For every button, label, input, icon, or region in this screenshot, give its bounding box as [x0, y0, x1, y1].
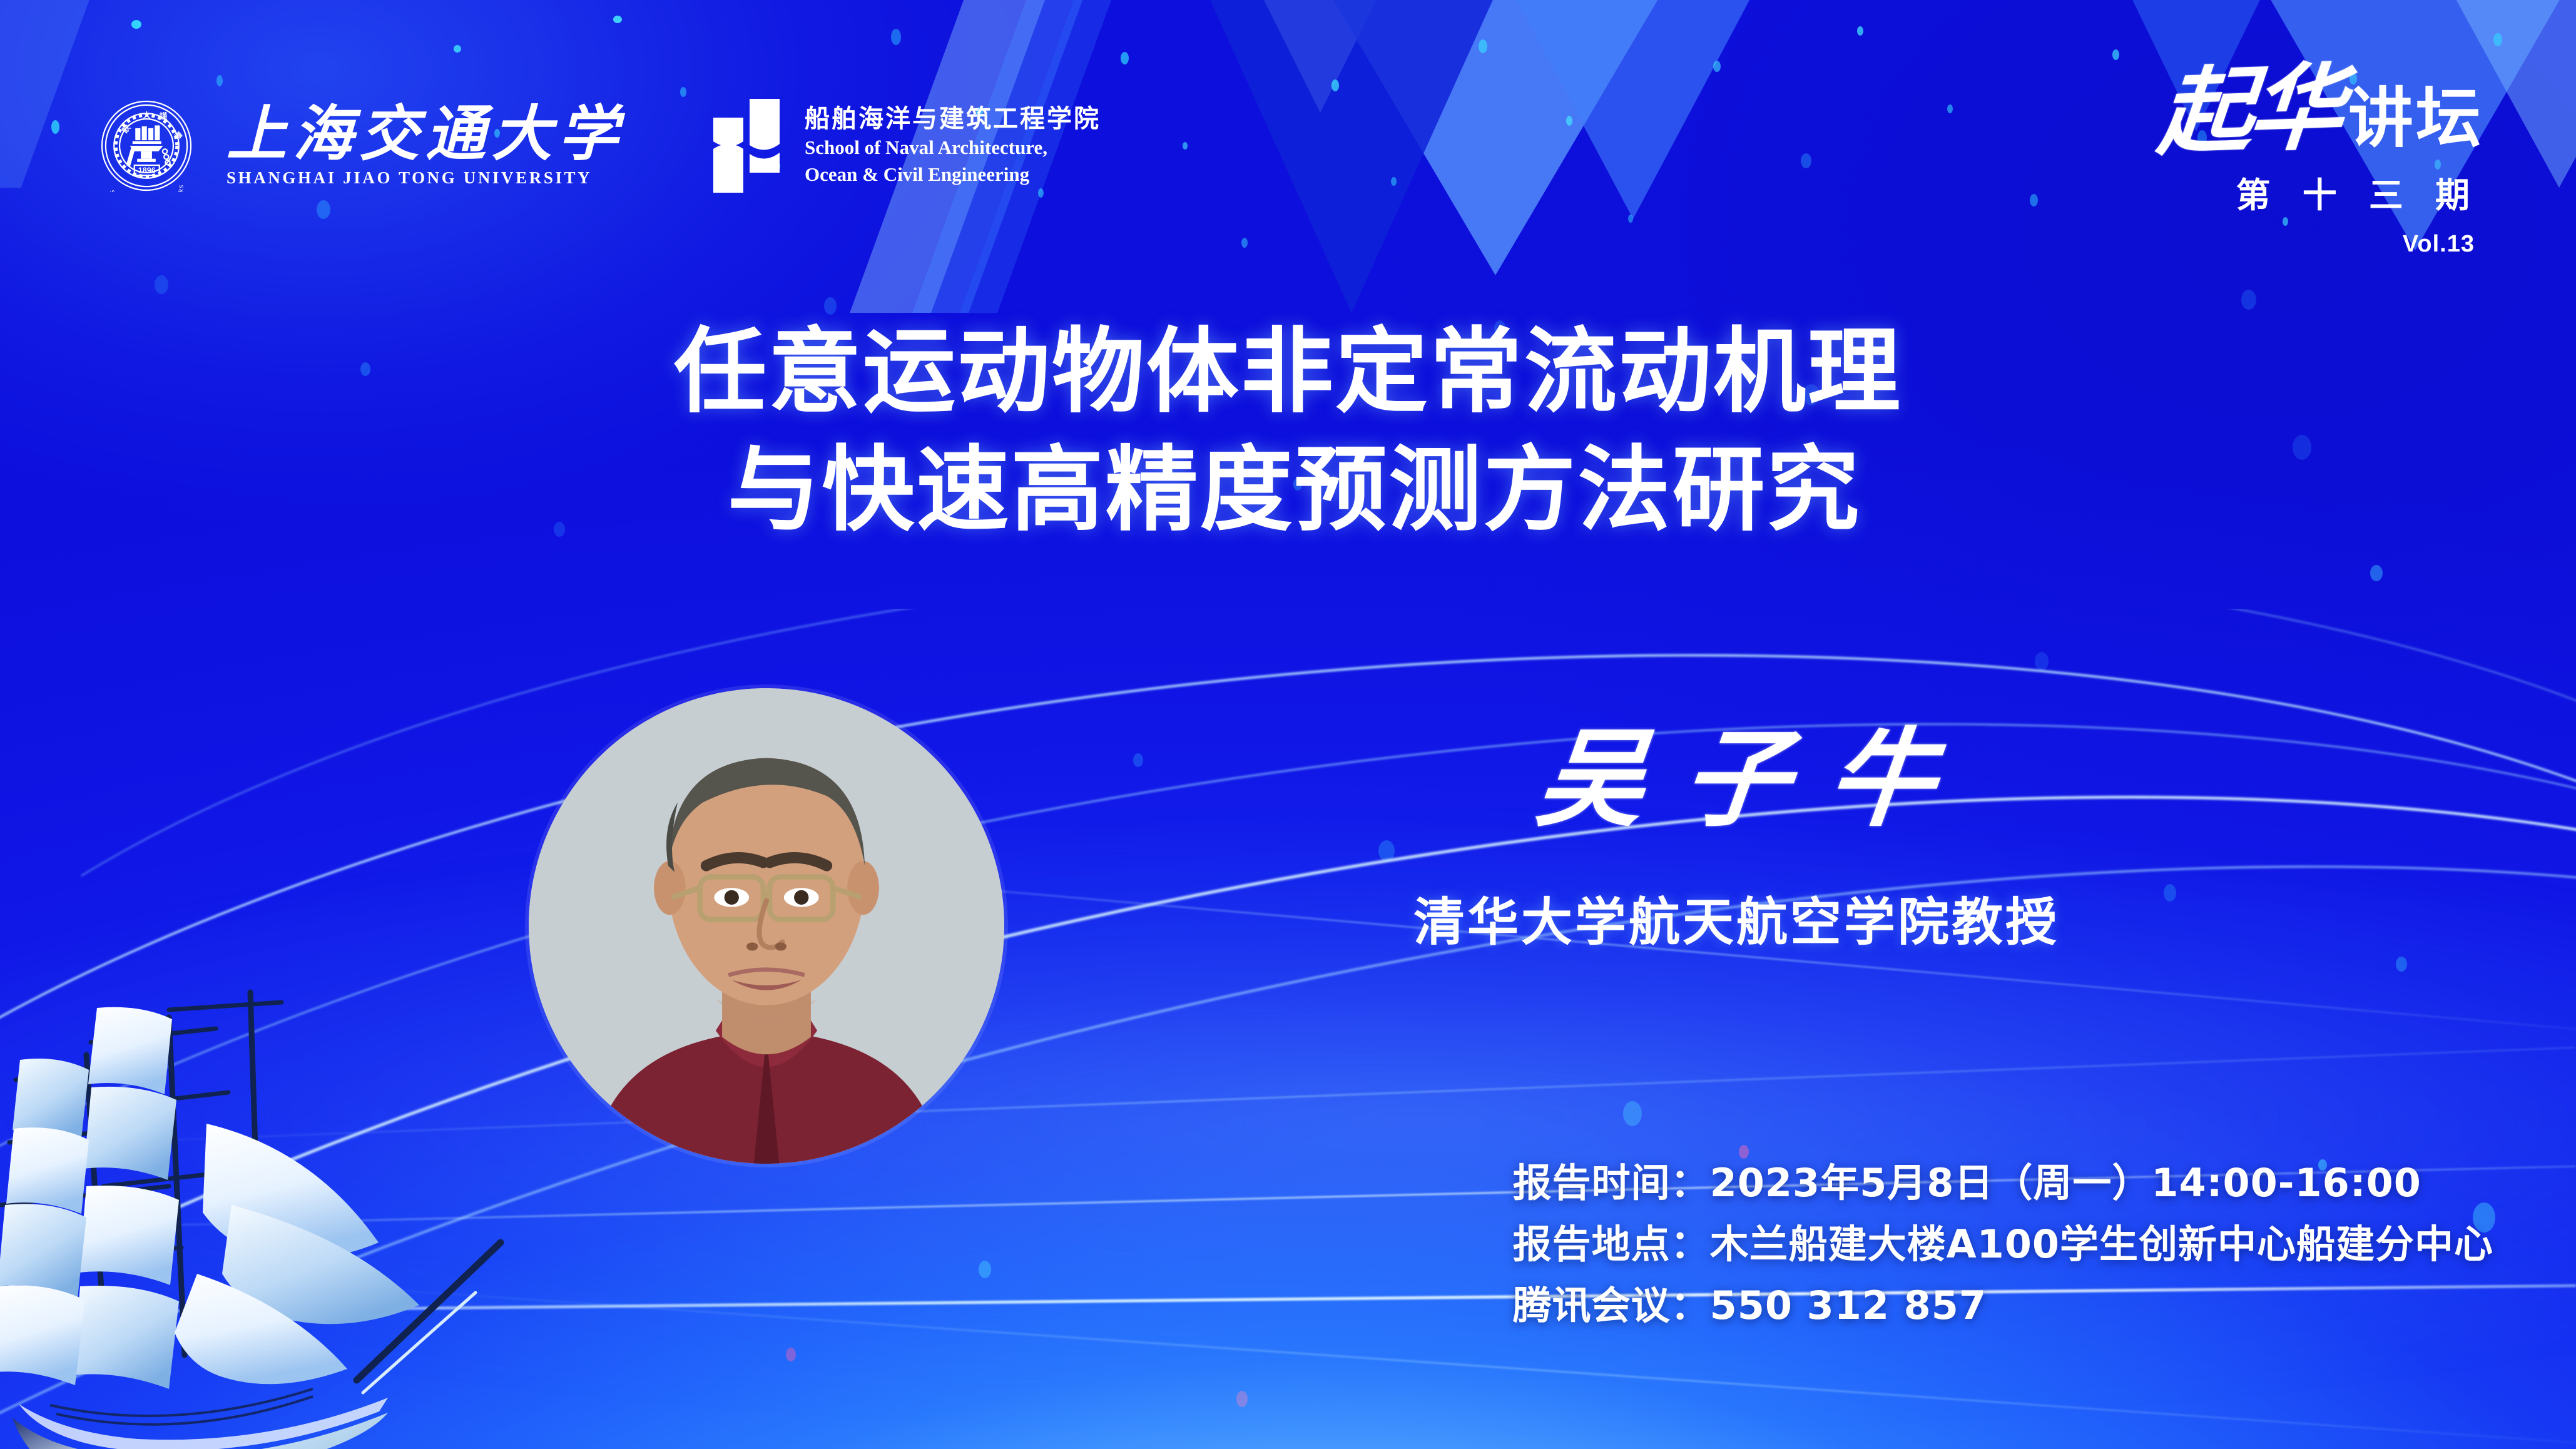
speaker-name: 吴子牛 [1277, 726, 2196, 832]
school-name-en-line1: School of Naval Architecture, [805, 136, 1101, 160]
speaker-portrait [529, 688, 1004, 1164]
event-time: 报告时间：2023年5月8日（周一）14:00-16:00 [1513, 1152, 2493, 1214]
forum-issue-number: 第 十 三 期 [2159, 167, 2483, 217]
school-name-cn: 船舶海洋与建筑工程学院 [805, 105, 1101, 133]
naval-architecture-mark-icon [713, 99, 788, 193]
svg-text:謹: 謹 [160, 111, 168, 121]
school-name-en-line2: Ocean & Civil Engineering [805, 163, 1101, 186]
title-line-2: 与快速高精度预测方法研究 [0, 431, 2576, 549]
title-line-1: 任意运动物体非定常流动机理 [0, 313, 2576, 431]
sjtu-name-en: SHANGHAI JIAO TONG UNIVERSITY [227, 168, 624, 188]
poster-title: 任意运动物体非定常流动机理 与快速高精度预测方法研究 [0, 313, 2576, 550]
forum-brand: 起华 讲坛 第 十 三 期 Vol.13 [2159, 70, 2483, 258]
school-logo: 船舶海洋与建筑工程学院 School of Naval Architecture… [713, 99, 1101, 193]
event-poster: 1896 SHANGHAI JIAO TONG UNIVERSITY 飮 大 謹… [0, 0, 2576, 1449]
forum-volume: Vol.13 [2159, 231, 2483, 258]
svg-text:1896: 1896 [138, 166, 156, 175]
poster-header: 1896 SHANGHAI JIAO TONG UNIVERSITY 飮 大 謹… [0, 0, 2576, 269]
forum-calligraphy: 起华 [2156, 67, 2343, 154]
forum-word: 讲坛 [2348, 86, 2483, 151]
event-place: 报告地点：木兰船建大楼A100学生创新中心船建分中心 [1513, 1214, 2493, 1275]
sjtu-wordmark: 上海交通大学 SHANGHAI JIAO TONG UNIVERSITY [227, 104, 624, 188]
event-meeting-id: 腾讯会议：550 312 857 [1513, 1275, 2493, 1336]
speaker-block: 吴子牛 清华大学航天航空学院教授 [1283, 726, 2190, 953]
institution-logos: 1896 SHANGHAI JIAO TONG UNIVERSITY 飮 大 謹… [100, 99, 1101, 193]
sjtu-seal-icon: 1896 SHANGHAI JIAO TONG UNIVERSITY 飮 大 謹… [100, 99, 193, 192]
school-wordmark: 船舶海洋与建筑工程学院 School of Naval Architecture… [805, 105, 1101, 187]
event-details: 报告时间：2023年5月8日（周一）14:00-16:00 报告地点：木兰船建大… [1513, 1152, 2493, 1336]
sjtu-name-cn: 上海交通大学 [227, 104, 624, 165]
sailing-ship-illustration [0, 980, 544, 1449]
svg-text:大: 大 [143, 111, 151, 120]
speaker-affiliation: 清华大学航天航空学院教授 [1283, 892, 2190, 953]
